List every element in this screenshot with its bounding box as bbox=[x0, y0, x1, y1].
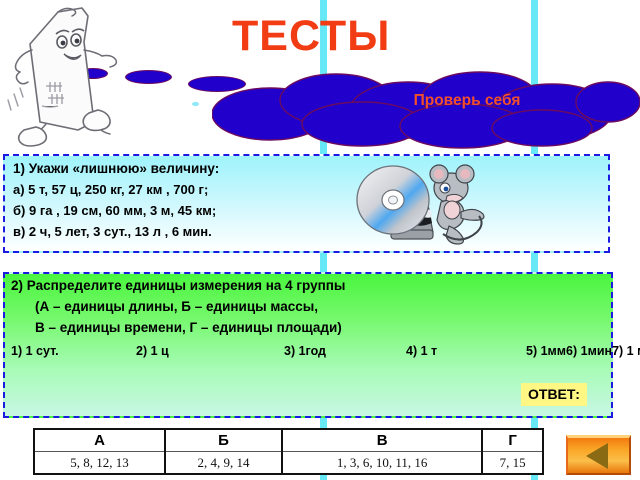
question-1-option-b: б) 9 га , 19 см, 60 мм, 3 м, 45 км; bbox=[13, 203, 216, 218]
table-cell: 7, 15 bbox=[482, 452, 543, 475]
decorative-blob bbox=[125, 70, 172, 84]
table-row: 5, 8, 12, 13 2, 4, 9, 14 1, 3, 6, 10, 11… bbox=[34, 452, 543, 475]
table-cell: 2, 4, 9, 14 bbox=[165, 452, 282, 475]
table-header-cell: Г bbox=[482, 429, 543, 452]
table-cell: 5, 8, 12, 13 bbox=[34, 452, 165, 475]
question-1-title: 1) Укажи «лишнюю» величину: bbox=[13, 161, 219, 176]
left-triangle-icon bbox=[586, 443, 608, 469]
table-header-cell: В bbox=[282, 429, 482, 452]
table-header-cell: Б bbox=[165, 429, 282, 452]
question-2-title: 2) Распределите единицы измерения на 4 г… bbox=[11, 278, 345, 293]
question-2-subtitle-b: В – единицы времени, Г – единицы площади… bbox=[35, 320, 342, 335]
paper-character-mascot bbox=[6, 2, 130, 152]
list-item: 3) 1год bbox=[284, 342, 406, 361]
slide-canvas: ТЕСТЫ Проверь себя 1) Укажи «лишнюю» вел… bbox=[0, 0, 640, 480]
question-1-option-c: в) 2 ч, 5 лет, 3 сут., 13 л , 6 мин. bbox=[13, 224, 212, 239]
table-cell: 1, 3, 6, 10, 11, 16 bbox=[282, 452, 482, 475]
list-item: 7) 1 мм² bbox=[612, 342, 640, 361]
question-2-subtitle-a: (А – единицы длины, Б – единицы массы, bbox=[35, 299, 318, 314]
back-button[interactable] bbox=[566, 435, 631, 475]
answer-reveal-label[interactable]: ОТВЕТ: bbox=[521, 383, 587, 406]
list-item: 5) 1мм bbox=[526, 342, 566, 361]
list-item: 2) 1 ц bbox=[136, 342, 284, 361]
answer-table: А Б В Г 5, 8, 12, 13 2, 4, 9, 14 1, 3, 6… bbox=[33, 428, 544, 475]
list-item: 6) 1мин bbox=[566, 342, 612, 361]
table-header-cell: А bbox=[34, 429, 165, 452]
question-1-option-a: а) 5 т, 57 ц, 250 кг, 27 км , 700 г; bbox=[13, 182, 208, 197]
units-list: 1) 1 сут. 2) 1 ц 3) 1год 4) 1 т 5) 1мм 6… bbox=[11, 342, 571, 361]
question-1-box: 1) Укажи «лишнюю» величину: а) 5 т, 57 ц… bbox=[3, 154, 610, 253]
cd-and-mouse-clipart bbox=[339, 160, 499, 250]
list-item: 1) 1 сут. bbox=[11, 342, 136, 361]
table-header-row: А Б В Г bbox=[34, 429, 543, 452]
page-title: ТЕСТЫ bbox=[232, 11, 452, 61]
banner-label: Проверь себя bbox=[372, 92, 562, 110]
decorative-blob bbox=[192, 102, 199, 106]
list-item: 4) 1 т bbox=[406, 342, 526, 361]
